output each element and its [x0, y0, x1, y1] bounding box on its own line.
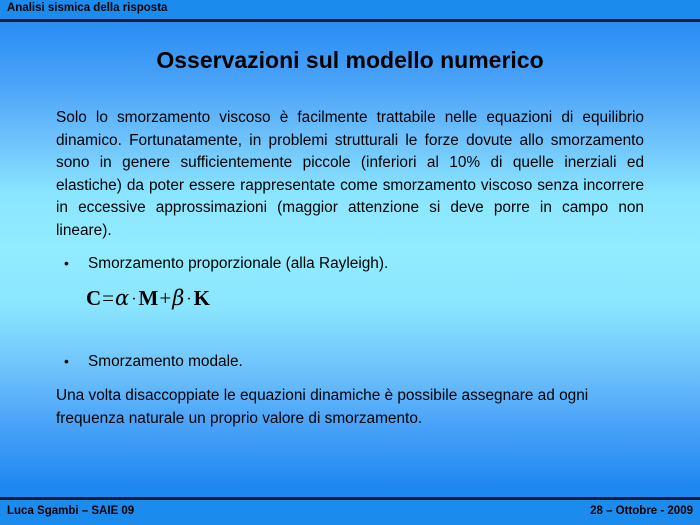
header-divider — [0, 19, 700, 22]
equation-plus: + — [158, 286, 172, 310]
bullet-marker-icon: • — [64, 253, 88, 273]
equation-matrix-k: K — [194, 286, 210, 310]
header-title: Analisi sismica della risposta — [7, 2, 167, 14]
list-item-label: Smorzamento proporzionale (alla Rayleigh… — [88, 255, 388, 272]
equation-equals: = — [101, 286, 115, 310]
list-item-label: Smorzamento modale. — [88, 353, 243, 370]
body-paragraph-main: Solo lo smorzamento viscoso è facilmente… — [56, 107, 644, 243]
equation-alpha: α — [115, 286, 129, 310]
equation-dot-1: · — [129, 291, 138, 308]
equation-matrix-m: M — [139, 286, 159, 310]
presentation-slide: Analisi sismica della risposta Osservazi… — [0, 0, 700, 525]
bullet-marker-icon: • — [64, 351, 88, 371]
footer-date: 28 – Ottobre - 2009 — [590, 505, 693, 517]
body-paragraph-closing: Una volta disaccoppiate le equazioni din… — [56, 385, 652, 430]
footer-author: Luca Sgambi – SAIE 09 — [7, 505, 134, 517]
equation-dot-2: · — [184, 291, 193, 308]
page-title: Osservazioni sul modello numerico — [0, 47, 700, 74]
equation-matrix-c: C — [86, 286, 101, 310]
list-item: •Smorzamento modale. — [64, 351, 243, 372]
equation-rayleigh-damping: C=α·M+β·K — [86, 286, 210, 311]
equation-beta: β — [172, 286, 184, 310]
list-item: •Smorzamento proporzionale (alla Rayleig… — [64, 253, 388, 274]
